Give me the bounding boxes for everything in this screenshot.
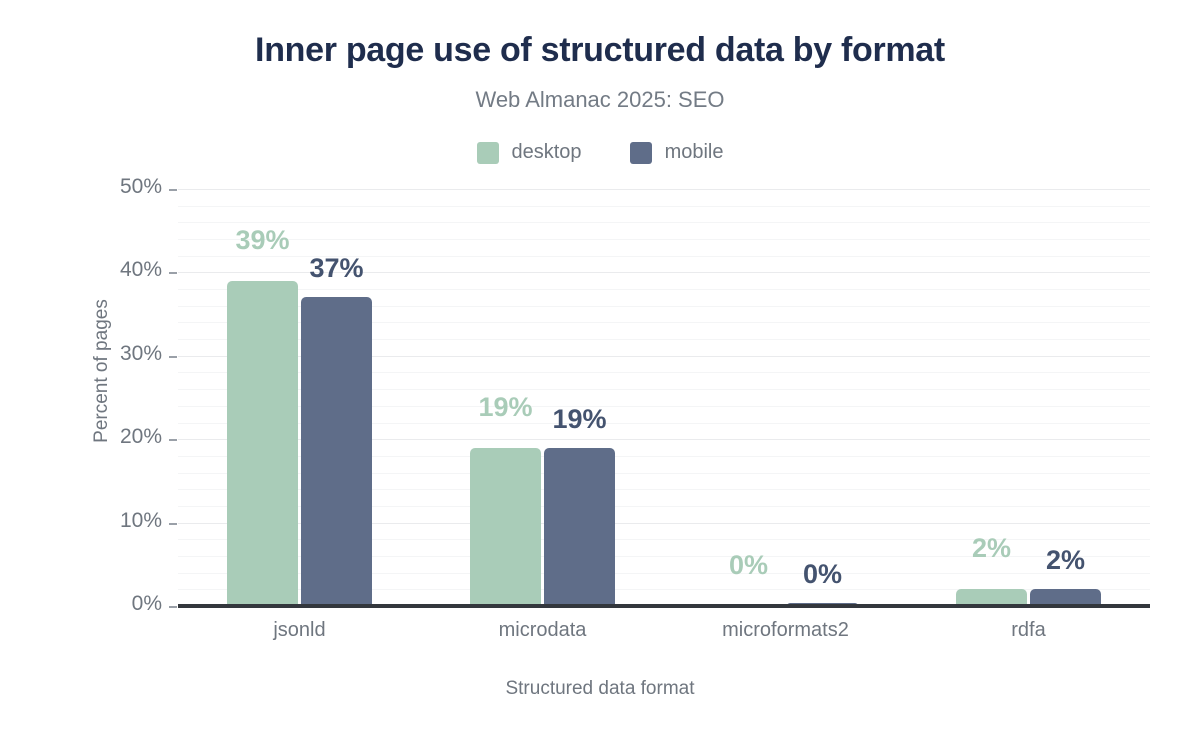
gridline [178, 222, 1150, 223]
legend-item-mobile[interactable]: mobile [630, 141, 724, 164]
legend-swatch-desktop [477, 142, 499, 164]
chart-subtitle: Web Almanac 2025: SEO [0, 87, 1200, 113]
y-axis-tick-label: 10% [40, 509, 162, 533]
y-axis-tick-label: 40% [40, 258, 162, 282]
x-axis-tick-label-rdfa: rdfa [907, 619, 1150, 642]
bar-value-microdata-mobile: 19% [532, 404, 627, 435]
x-axis-tick-label-microdata: microdata [421, 619, 664, 642]
bar-value-microformats2-mobile: 0% [775, 559, 870, 590]
y-axis-tick-mark [169, 356, 177, 358]
y-axis-tick-mark [169, 272, 177, 274]
y-axis-tick-mark [169, 439, 177, 441]
plot-area: 39%37%19%19%0%0%2%2% [178, 189, 1150, 606]
gridline [178, 206, 1150, 207]
x-axis-tick-label-jsonld: jsonld [178, 619, 421, 642]
legend-item-desktop[interactable]: desktop [477, 141, 582, 164]
y-axis-tick-label: 0% [40, 592, 162, 616]
bar-value-jsonld-mobile: 37% [289, 253, 384, 284]
chart-title: Inner page use of structured data by for… [0, 30, 1200, 71]
chart-container: Inner page use of structured data by for… [0, 0, 1200, 742]
y-axis-tick-label: 20% [40, 425, 162, 449]
legend-label-mobile: mobile [665, 141, 724, 164]
x-axis-tick-label-microformats2: microformats2 [664, 619, 907, 642]
legend-label-desktop: desktop [512, 141, 582, 164]
y-axis-tick-mark [169, 523, 177, 525]
y-axis-tick-mark [169, 189, 177, 191]
y-axis-tick-label: 50% [40, 175, 162, 199]
x-axis-title: Structured data format [0, 678, 1200, 700]
gridline [178, 289, 1150, 290]
gridline [178, 189, 1150, 190]
bar-jsonld-mobile[interactable] [301, 297, 372, 606]
legend-swatch-mobile [630, 142, 652, 164]
gridline [178, 239, 1150, 240]
chart-legend: desktop mobile [0, 141, 1200, 164]
bar-microdata-desktop[interactable] [470, 448, 541, 606]
x-axis-line [178, 604, 1150, 608]
y-axis-tick-mark [169, 606, 177, 608]
y-axis-tick-label: 30% [40, 342, 162, 366]
bar-jsonld-desktop[interactable] [227, 281, 298, 606]
bar-value-rdfa-mobile: 2% [1018, 545, 1113, 576]
bar-value-jsonld-desktop: 39% [215, 225, 310, 256]
bar-microdata-mobile[interactable] [544, 448, 615, 606]
